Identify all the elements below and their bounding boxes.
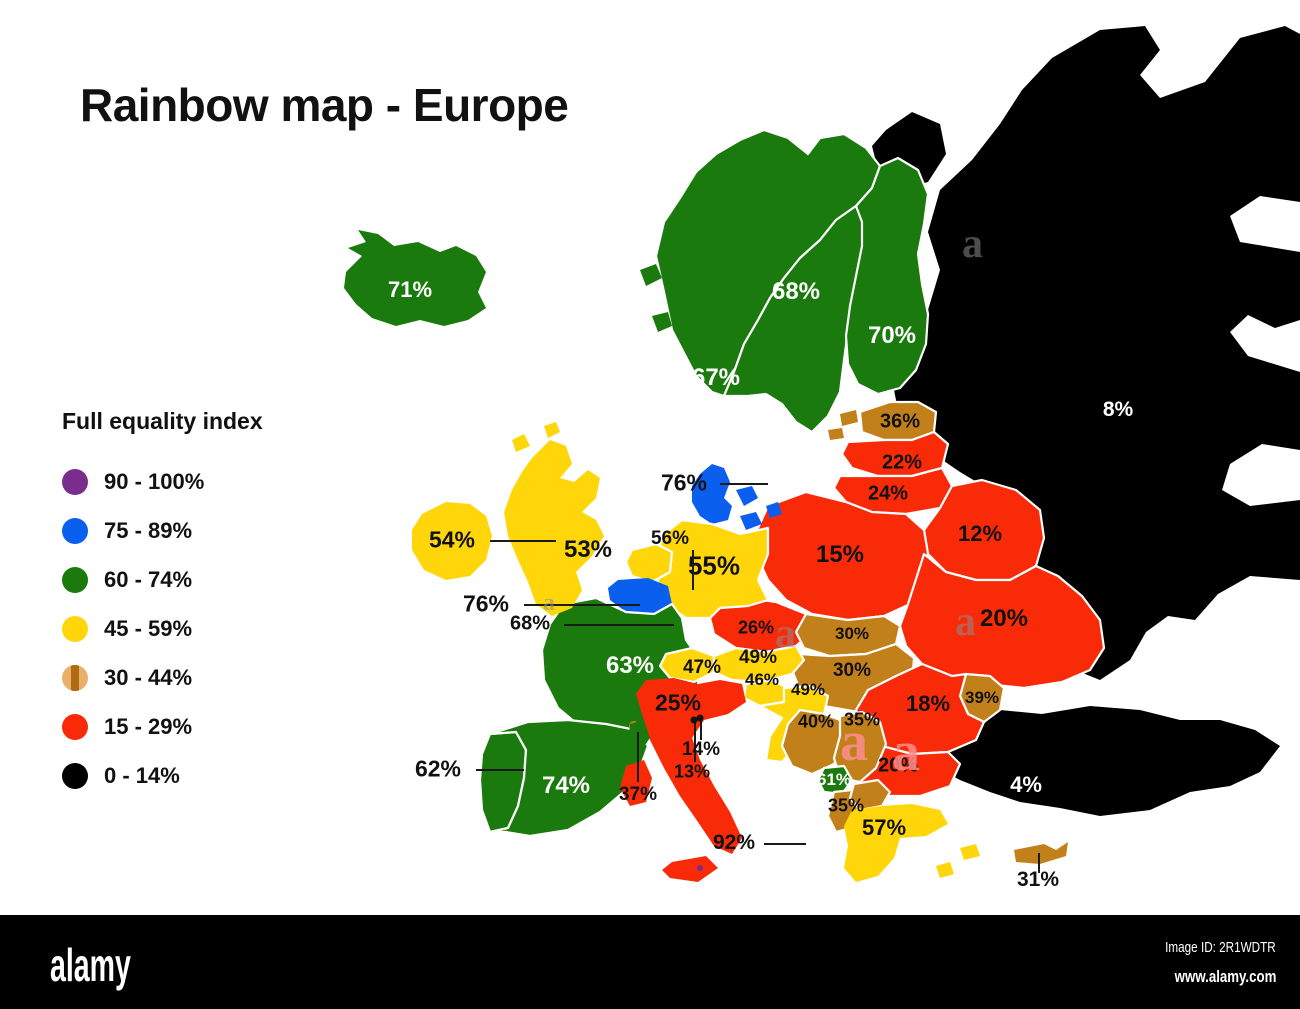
legend-swatch-black [62,763,88,789]
leader-cyprus [1038,853,1040,873]
leader-vatican [700,720,702,740]
leader-belgium [524,604,640,606]
legend-label-75-89: 75 - 89% [104,518,192,544]
callout-denmark: 76% [661,470,707,497]
region-malta[interactable] [697,865,703,871]
legend-label-90-100: 90 - 100% [104,469,204,495]
legend-swatch-blue [62,518,88,544]
footer-url[interactable]: www.alamy.com [1174,967,1276,987]
region-cyprus[interactable] [1014,842,1068,864]
region-estonia-isles[interactable] [828,410,858,440]
legend-label-60-74: 60 - 74% [104,567,192,593]
dot-vatican [697,715,704,722]
legend: Full equality index 90 - 100% 75 - 89% 6… [62,408,332,800]
legend-item-30-44: 30 - 44% [62,653,332,702]
legend-label-30-44: 30 - 44% [104,665,192,691]
alamy-logo: alamy [50,938,131,992]
alamy-footer: alamy Image ID: 2R1WDTR www.alamy.com [0,915,1300,1009]
legend-swatch-red [62,714,88,740]
legend-label-0-14: 0 - 14% [104,763,180,789]
map-page: Rainbow map - Europe Full equality index… [0,0,1300,915]
legend-item-60-74: 60 - 74% [62,555,332,604]
callout-malta: 92% [713,831,755,855]
leader-andorra [637,732,639,782]
callout-vatican: 14% [682,739,720,761]
region-iceland[interactable] [344,230,486,326]
leader-malta [764,843,806,845]
leader-luxembourg [564,624,674,626]
region-austria[interactable] [714,646,804,682]
callout-portugal: 62% [415,756,461,783]
legend-swatch-yellow [62,616,88,642]
region-north-macedonia[interactable] [850,780,890,810]
region-italy-sicily[interactable] [662,856,718,882]
callout-monaco: 13% [674,762,710,783]
legend-label-15-29: 15 - 29% [104,714,192,740]
legend-swatch-purple [62,469,88,495]
legend-swatch-green [62,567,88,593]
legend-item-75-89: 75 - 89% [62,506,332,555]
legend-item-0-14: 0 - 14% [62,751,332,800]
legend-swatch-ochre-striped [62,665,88,691]
callout-luxembourg: 68% [510,613,550,636]
legend-title: Full equality index [62,408,332,435]
callout-ireland: 54% [429,527,475,554]
leader-portugal [476,769,524,771]
region-uk[interactable] [504,440,604,616]
legend-swatch-stripe [71,665,79,691]
callout-andorra: 37% [619,784,657,806]
callout-belgium: 76% [463,591,509,618]
callout-netherlands: 56% [651,528,689,550]
region-greece[interactable] [844,804,948,882]
legend-label-45-59: 45 - 59% [104,616,192,642]
footer-image-id: Image ID: 2R1WDTR [1165,939,1276,956]
legend-item-15-29: 15 - 29% [62,702,332,751]
region-greece-isles[interactable] [936,844,980,878]
leader-netherlands [692,550,694,590]
leader-ireland [490,540,556,542]
leader-denmark [720,483,768,485]
europe-map: 71% 67% 68% 70% 36% 22% 24% 8% 12% 20% 3… [300,20,1300,900]
legend-item-90-100: 90 - 100% [62,457,332,506]
region-switzerland[interactable] [660,648,714,682]
legend-item-45-59: 45 - 59% [62,604,332,653]
